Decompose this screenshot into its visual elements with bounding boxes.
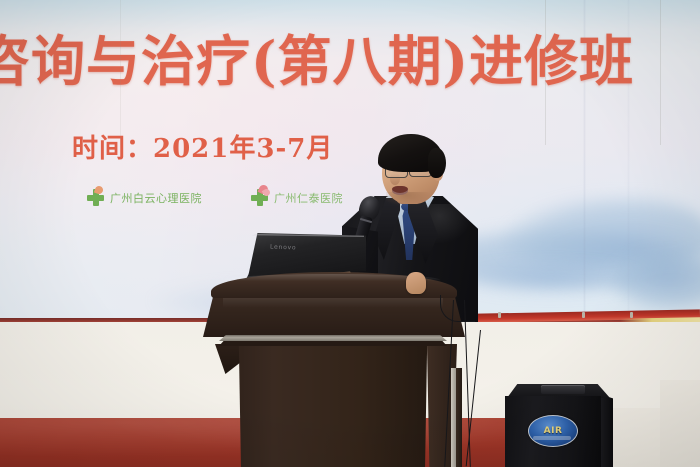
banner-clip (630, 312, 633, 318)
wall-panel-seam (660, 0, 661, 145)
pa-speaker-handle (541, 385, 585, 394)
pa-speaker-badge: AIR (528, 415, 578, 447)
pa-badge-subtext (533, 436, 571, 440)
jaw-shadow (386, 192, 430, 206)
pa-speaker-cabinet: AIR (505, 384, 611, 467)
green-cross-flower-icon (250, 188, 269, 207)
podium-face-highlight (223, 298, 443, 308)
banner-clip (498, 312, 501, 318)
podium-body (226, 344, 440, 467)
banner-title: 咨询与治疗(第八期)进修班 (0, 34, 700, 88)
wall-panel-seam (545, 0, 546, 145)
banner-date-line: 时间：2021年3-7月 (72, 128, 333, 165)
pa-speaker-side (599, 394, 613, 467)
podium-chamfer-shadow (219, 341, 447, 346)
banner-clip (582, 312, 585, 318)
wall-panel-seam (120, 0, 121, 145)
hand-on-podium (406, 272, 426, 294)
wall-panel-far-right (660, 380, 700, 467)
laptop-brand-label: Lenovo (270, 244, 297, 252)
lectern-podium (203, 272, 463, 467)
logo-guangzhou-baiyun: 广州白云心理医院 (86, 188, 202, 207)
logo-label: 广州白云心理医院 (110, 190, 202, 206)
mouth (392, 186, 408, 195)
laptop-lid (248, 233, 366, 277)
green-cross-icon (86, 188, 105, 207)
podium-body-left (215, 344, 241, 374)
podium-side-edge (456, 368, 462, 467)
pa-badge-label: AIR (544, 426, 563, 436)
podium-chamfer-stripe (219, 335, 447, 341)
conference-photo-scene: 咨询与治疗(第八期)进修班 时间：2021年3-7月 广州白云心理医院 广州仁泰… (0, 0, 700, 467)
hair-side (428, 148, 446, 178)
sponsor-logo-row: 广州白云心理医院 广州仁泰医院 (86, 188, 343, 207)
